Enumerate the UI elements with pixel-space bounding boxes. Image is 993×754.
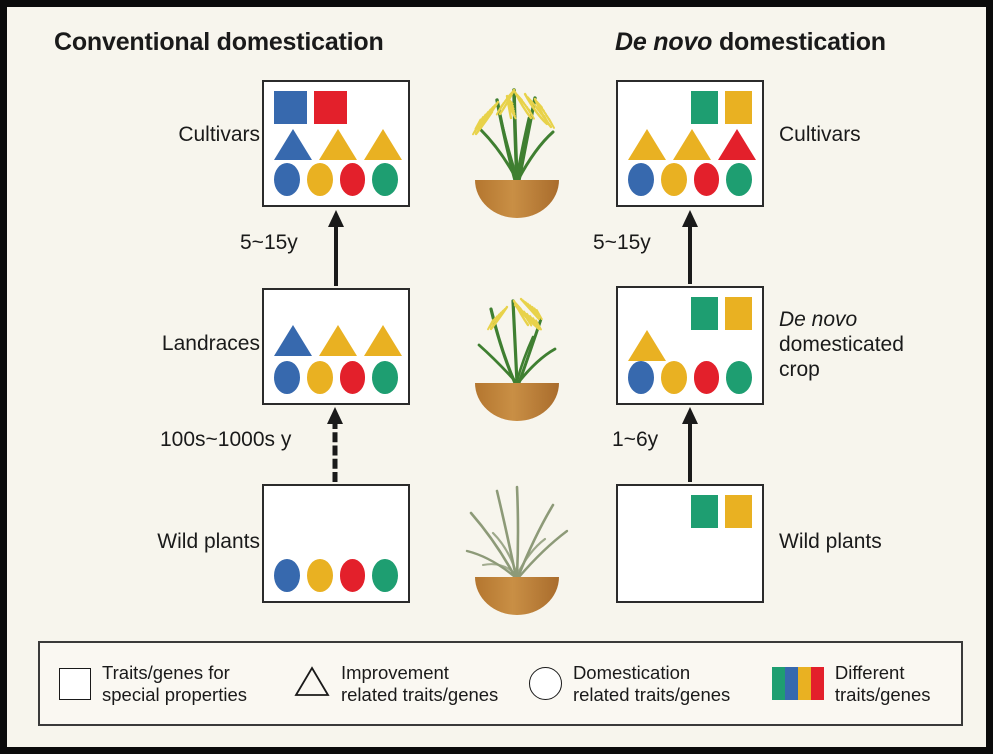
trait-triangle-yellow — [319, 129, 357, 160]
trait-circle-blue — [274, 559, 300, 592]
shape-row-circles-empty — [628, 568, 752, 592]
trait-triangle-yellow — [673, 129, 711, 160]
trait-circle-blue — [274, 163, 300, 196]
color-bar-yellow — [798, 667, 811, 700]
trait-triangle-blue — [274, 325, 312, 356]
trait-circle-green — [372, 361, 398, 394]
trait-square-yellow — [725, 91, 752, 124]
trait-square-green — [691, 495, 718, 528]
shape-row-squares-empty — [274, 299, 398, 317]
trait-circle-blue — [628, 163, 654, 196]
shape-row-circles — [628, 361, 752, 394]
square-outline-icon — [59, 668, 91, 700]
arrow-shaft — [333, 419, 338, 482]
row-label-landraces: Landraces — [70, 331, 260, 356]
arrow-landraces-to-cultivars — [328, 210, 344, 286]
trait-box-landraces — [262, 288, 410, 405]
shape-row-triangles-empty — [274, 529, 398, 553]
trait-triangle-yellow — [364, 325, 402, 356]
arrow-label-5-15y-right: 5~15y — [593, 231, 651, 255]
row-gap — [274, 317, 398, 325]
triangle-outline-icon — [294, 665, 330, 702]
trait-box-wild-plants-conventional — [262, 484, 410, 603]
trait-circle-yellow — [307, 559, 333, 592]
shape-row-triangles — [274, 325, 398, 356]
column-title-denovo-italic: De novo — [615, 28, 712, 56]
color-bar-blue — [785, 667, 798, 700]
trait-square-red — [314, 91, 347, 124]
shape-row-squares — [628, 91, 752, 124]
row-label-denovo-crop: De novodomesticated crop — [779, 307, 904, 382]
trait-square-yellow — [725, 297, 752, 330]
plant-illustration-domesticated-rice — [457, 72, 577, 222]
figure-panel: Conventional domestication De novo domes… — [0, 0, 993, 754]
legend-label-improvement-traits: Improvement related traits/genes — [341, 662, 498, 706]
shape-row-circles — [274, 163, 398, 196]
shape-row-triangles-empty — [628, 538, 752, 562]
trait-circle-red — [340, 559, 366, 592]
shape-row-triangles — [628, 330, 752, 361]
trait-circle-green — [372, 163, 398, 196]
color-bars-icon — [772, 667, 824, 700]
arrow-shaft — [334, 222, 338, 286]
trait-triangle-yellow — [628, 129, 666, 160]
trait-circle-yellow — [307, 361, 333, 394]
trait-triangle-yellow — [319, 325, 357, 356]
trait-circle-blue — [628, 361, 654, 394]
row-gap — [274, 519, 398, 529]
column-title-denovo-text: domestication — [712, 28, 886, 56]
column-title-conventional-text: Conventional domestication — [54, 28, 384, 56]
legend-item-different-traits: Different traits/genes — [772, 662, 961, 706]
trait-circle-yellow — [661, 361, 687, 394]
plant-illustration-wild-grass — [457, 469, 577, 619]
legend-label-special-properties: Traits/genes for special properties — [102, 662, 247, 706]
shape-row-squares — [628, 297, 752, 330]
arrow-label-5-15y-left: 5~15y — [240, 231, 298, 255]
trait-circle-green — [372, 559, 398, 592]
shape-row-circles — [274, 361, 398, 394]
row-label-wild-plants-right: Wild plants — [779, 529, 882, 554]
color-bar-green — [772, 667, 785, 700]
arrow-wild-to-landraces — [327, 407, 343, 482]
trait-square-yellow — [725, 495, 752, 528]
trait-circle-yellow — [661, 163, 687, 196]
legend-label-different-traits: Different traits/genes — [835, 662, 931, 706]
circle-outline-icon — [529, 667, 562, 700]
plant-illustration-landrace-rice — [457, 275, 577, 425]
trait-circle-yellow — [307, 163, 333, 196]
row-label-denovo-crop-rest: domesticated crop — [779, 333, 904, 381]
trait-circle-blue — [274, 361, 300, 394]
trait-square-green — [691, 91, 718, 124]
trait-triangle-blue — [274, 129, 312, 160]
arrow-denovo-crop-to-cultivars — [682, 210, 698, 284]
trait-box-denovo-crop — [616, 286, 764, 405]
legend-label-domestication-traits: Domestication related traits/genes — [573, 662, 730, 706]
trait-circle-red — [340, 361, 366, 394]
trait-square-blue — [274, 91, 307, 124]
legend-item-domestication-traits: Domestication related traits/genes — [529, 662, 764, 706]
arrow-shaft — [688, 419, 692, 482]
trait-circle-green — [726, 163, 752, 196]
trait-triangle-yellow — [628, 330, 666, 361]
shape-row-triangles — [628, 129, 752, 160]
shape-row-squares-empty — [274, 495, 398, 519]
arrow-wild-to-denovo-crop — [682, 407, 698, 482]
row-label-denovo-crop-italic: De novo — [779, 308, 857, 331]
trait-circle-red — [694, 361, 720, 394]
column-title-conventional: Conventional domestication — [54, 28, 384, 57]
row-label-wild-plants-left: Wild plants — [70, 529, 260, 554]
shape-row-triangles — [274, 129, 398, 160]
legend: Traits/genes for special properties Impr… — [38, 641, 963, 726]
row-label-cultivars-right: Cultivars — [779, 122, 861, 147]
legend-item-special-properties: Traits/genes for special properties — [59, 662, 286, 706]
shape-row-squares — [274, 91, 398, 124]
color-bar-red — [811, 667, 824, 700]
arrow-label-100s-1000s-y: 100s~1000s y — [160, 428, 291, 452]
trait-circle-green — [726, 361, 752, 394]
shape-row-circles — [628, 163, 752, 196]
row-gap — [628, 528, 752, 538]
row-label-cultivars-left: Cultivars — [70, 122, 260, 147]
trait-box-wild-plants-denovo — [616, 484, 764, 603]
arrow-label-1-6y: 1~6y — [612, 428, 658, 452]
trait-circle-red — [694, 163, 720, 196]
shape-row-circles — [274, 559, 398, 592]
trait-triangle-yellow — [364, 129, 402, 160]
column-title-denovo: De novo domestication — [615, 28, 886, 57]
trait-circle-red — [340, 163, 366, 196]
shape-row-squares — [628, 495, 752, 528]
trait-box-cultivars-denovo — [616, 80, 764, 207]
legend-item-improvement-traits: Improvement related traits/genes — [294, 662, 521, 706]
trait-box-cultivars-conventional — [262, 80, 410, 207]
arrow-shaft — [688, 222, 692, 284]
trait-square-green — [691, 297, 718, 330]
trait-triangle-red — [718, 129, 756, 160]
